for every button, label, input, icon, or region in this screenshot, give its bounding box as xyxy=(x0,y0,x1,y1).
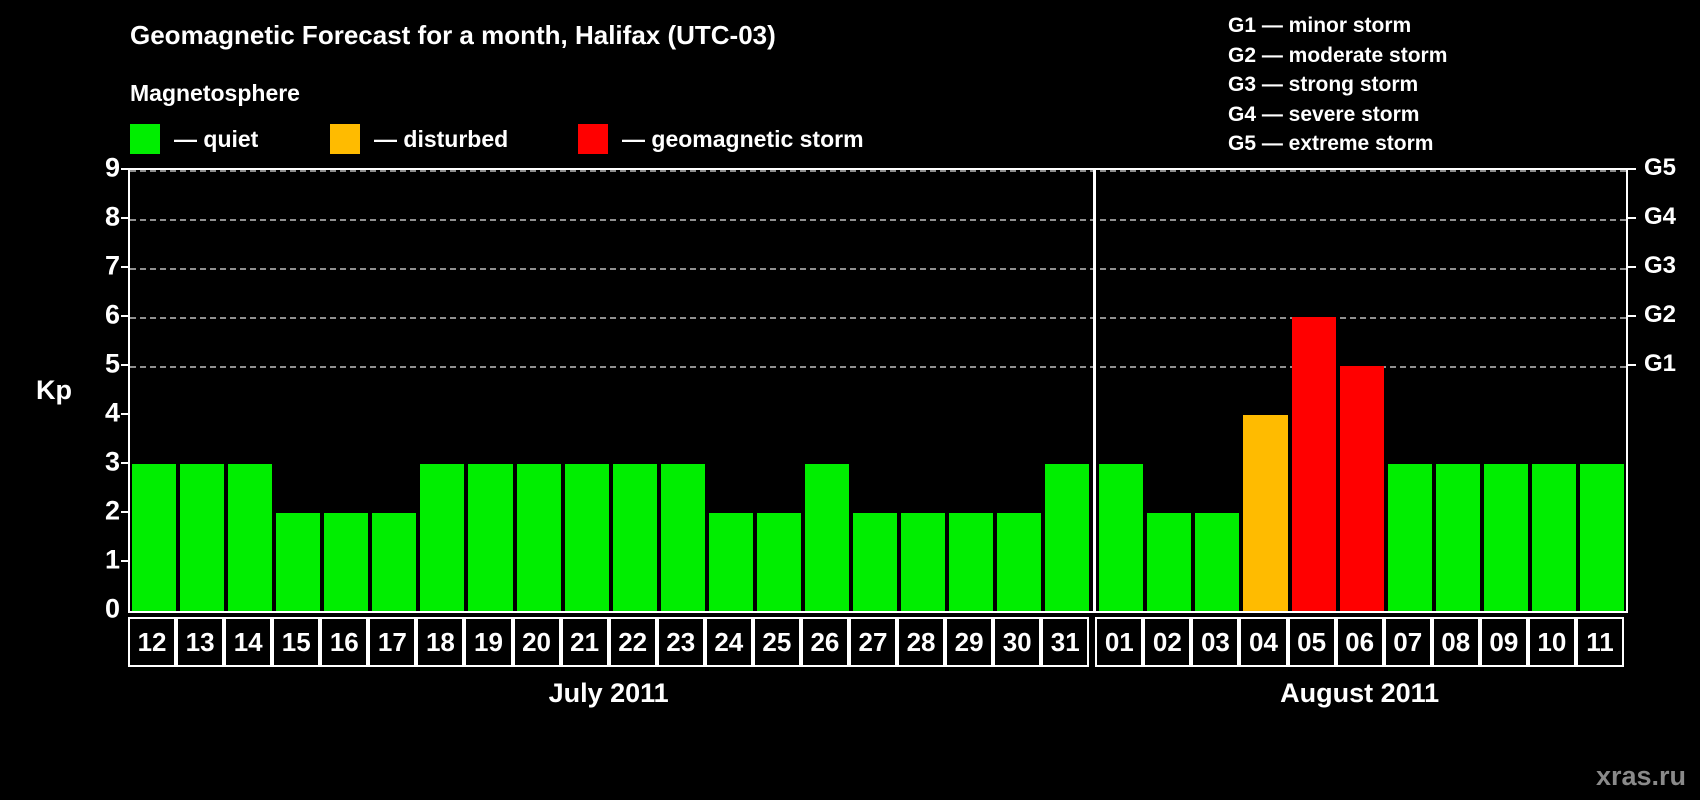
g-tick-label-G1: G1 xyxy=(1644,352,1676,376)
day-label-05[interactable]: 05 xyxy=(1288,617,1336,667)
day-label-08[interactable]: 08 xyxy=(1432,617,1480,667)
bar-day-10[interactable] xyxy=(1532,464,1576,611)
day-label-02[interactable]: 02 xyxy=(1143,617,1191,667)
quiet-legend-swatch xyxy=(130,124,160,154)
bar-day-13[interactable] xyxy=(180,464,224,611)
y-tick-label-4: 4 xyxy=(80,400,120,427)
bar-day-11[interactable] xyxy=(1580,464,1624,611)
bar-day-06[interactable] xyxy=(1340,366,1384,611)
day-label-17[interactable]: 17 xyxy=(368,617,416,667)
day-label-07[interactable]: 07 xyxy=(1384,617,1432,667)
page-title: Geomagnetic Forecast for a month, Halifa… xyxy=(130,20,776,51)
section-label-magnetosphere: Magnetosphere xyxy=(130,80,300,107)
day-label-14[interactable]: 14 xyxy=(224,617,272,667)
y-tick-label-3: 3 xyxy=(80,449,120,476)
g-tick-label-G5: G5 xyxy=(1644,156,1676,180)
bar-day-04[interactable] xyxy=(1243,415,1287,611)
g-tick-mark-G1 xyxy=(1626,364,1636,366)
bar-day-07[interactable] xyxy=(1388,464,1432,611)
month-caption-2: August 2011 xyxy=(1095,678,1624,709)
quiet-legend: — quiet xyxy=(130,122,258,156)
bar-day-21[interactable] xyxy=(565,464,609,611)
day-label-25[interactable]: 25 xyxy=(753,617,801,667)
disturbed-legend-label: — disturbed xyxy=(374,126,508,153)
g-scale-legend: G1 — minor stormG2 — moderate stormG3 — … xyxy=(1228,11,1588,159)
g-scale-legend-row-3: G3 — strong storm xyxy=(1228,70,1588,100)
g-scale-legend-row-2: G2 — moderate storm xyxy=(1228,41,1588,71)
g-tick-mark-G3 xyxy=(1626,266,1636,268)
y-axis-title: Kp xyxy=(36,375,72,406)
day-label-16[interactable]: 16 xyxy=(320,617,368,667)
day-label-31[interactable]: 31 xyxy=(1041,617,1089,667)
day-label-03[interactable]: 03 xyxy=(1191,617,1239,667)
bar-day-28[interactable] xyxy=(901,513,945,611)
day-label-26[interactable]: 26 xyxy=(801,617,849,667)
day-label-28[interactable]: 28 xyxy=(897,617,945,667)
bar-day-30[interactable] xyxy=(997,513,1041,611)
g-tick-label-G2: G2 xyxy=(1644,303,1676,327)
y-tick-label-9: 9 xyxy=(80,155,120,182)
y-tick-label-0: 0 xyxy=(80,596,120,623)
y-tick-label-6: 6 xyxy=(80,302,120,329)
y-tick-label-7: 7 xyxy=(80,253,120,280)
day-label-04[interactable]: 04 xyxy=(1239,617,1287,667)
bar-day-02[interactable] xyxy=(1147,513,1191,611)
day-axis: 1213141516171819202122232425262728293031… xyxy=(128,617,1628,667)
day-label-23[interactable]: 23 xyxy=(657,617,705,667)
bar-day-31[interactable] xyxy=(1045,464,1089,611)
bars-layer xyxy=(130,170,1626,611)
day-label-24[interactable]: 24 xyxy=(705,617,753,667)
y-tick-label-8: 8 xyxy=(80,204,120,231)
bar-day-08[interactable] xyxy=(1436,464,1480,611)
bar-day-27[interactable] xyxy=(853,513,897,611)
bar-day-09[interactable] xyxy=(1484,464,1528,611)
storm-legend-swatch xyxy=(578,124,608,154)
bar-day-25[interactable] xyxy=(757,513,801,611)
day-label-10[interactable]: 10 xyxy=(1528,617,1576,667)
g-scale-legend-row-1: G1 — minor storm xyxy=(1228,11,1588,41)
day-label-20[interactable]: 20 xyxy=(513,617,561,667)
day-label-18[interactable]: 18 xyxy=(416,617,464,667)
bar-day-01[interactable] xyxy=(1099,464,1143,611)
day-label-11[interactable]: 11 xyxy=(1576,617,1624,667)
bar-day-16[interactable] xyxy=(324,513,368,611)
bar-day-22[interactable] xyxy=(613,464,657,611)
day-label-21[interactable]: 21 xyxy=(561,617,609,667)
y-tick-label-5: 5 xyxy=(80,351,120,378)
day-label-19[interactable]: 19 xyxy=(464,617,512,667)
bar-day-05[interactable] xyxy=(1292,317,1336,611)
g-tick-label-G3: G3 xyxy=(1644,254,1676,278)
day-label-13[interactable]: 13 xyxy=(176,617,224,667)
day-label-06[interactable]: 06 xyxy=(1336,617,1384,667)
y-tick-label-2: 2 xyxy=(80,498,120,525)
y-tick-label-1: 1 xyxy=(80,547,120,574)
bar-day-12[interactable] xyxy=(132,464,176,611)
g-scale-legend-row-4: G4 — severe storm xyxy=(1228,100,1588,130)
disturbed-legend: — disturbed xyxy=(330,122,508,156)
month-caption-1: July 2011 xyxy=(128,678,1089,709)
day-label-29[interactable]: 29 xyxy=(945,617,993,667)
g-tick-label-G4: G4 xyxy=(1644,205,1676,229)
day-label-22[interactable]: 22 xyxy=(609,617,657,667)
y-axis-g-scale: G5G4G3G2G1 xyxy=(1632,168,1700,613)
quiet-legend-label: — quiet xyxy=(174,126,258,153)
bar-day-17[interactable] xyxy=(372,513,416,611)
storm-legend: — geomagnetic storm xyxy=(578,122,864,156)
day-label-30[interactable]: 30 xyxy=(993,617,1041,667)
bar-day-20[interactable] xyxy=(517,464,561,611)
storm-legend-label: — geomagnetic storm xyxy=(622,126,864,153)
day-label-09[interactable]: 09 xyxy=(1480,617,1528,667)
bar-day-14[interactable] xyxy=(228,464,272,611)
day-label-01[interactable]: 01 xyxy=(1095,617,1143,667)
bar-day-29[interactable] xyxy=(949,513,993,611)
bar-day-23[interactable] xyxy=(661,464,705,611)
g-tick-mark-G4 xyxy=(1626,217,1636,219)
bar-day-26[interactable] xyxy=(805,464,849,611)
bar-day-18[interactable] xyxy=(420,464,464,611)
g-tick-mark-G5 xyxy=(1626,168,1636,170)
bar-day-03[interactable] xyxy=(1195,513,1239,611)
watermark: xras.ru xyxy=(1596,761,1686,792)
disturbed-legend-swatch xyxy=(330,124,360,154)
plot-area xyxy=(128,168,1628,613)
month-divider-line xyxy=(1093,170,1096,611)
bar-day-24[interactable] xyxy=(709,513,753,611)
day-label-12[interactable]: 12 xyxy=(128,617,176,667)
day-label-27[interactable]: 27 xyxy=(849,617,897,667)
bar-day-19[interactable] xyxy=(468,464,512,611)
plot-inner xyxy=(130,170,1626,611)
day-label-15[interactable]: 15 xyxy=(272,617,320,667)
g-tick-mark-G2 xyxy=(1626,315,1636,317)
bar-day-15[interactable] xyxy=(276,513,320,611)
g-scale-legend-row-5: G5 — extreme storm xyxy=(1228,129,1588,159)
